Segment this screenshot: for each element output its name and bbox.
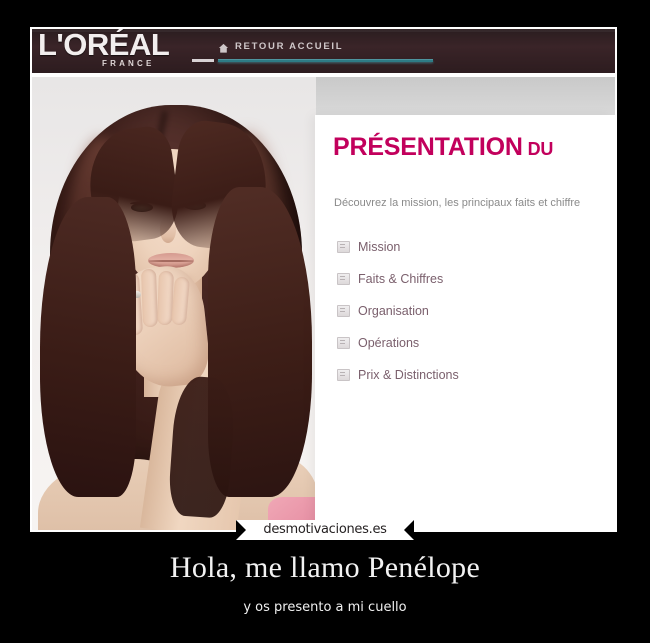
content-panel: PRÉSENTATION DU Découvrez la mission, le… <box>315 115 615 530</box>
list-item-label: Opérations <box>358 336 419 350</box>
list-item[interactable]: Mission <box>337 231 459 263</box>
finger-2 <box>141 269 158 327</box>
home-icon <box>218 41 229 52</box>
caption-sub: y os presento a mi cuello <box>0 600 650 615</box>
loreal-france-label: FRANCE <box>102 59 155 68</box>
square-bullet-icon <box>337 305 350 317</box>
list-item[interactable]: Opérations <box>337 327 459 359</box>
square-bullet-icon <box>337 337 350 349</box>
square-bullet-icon <box>337 369 350 381</box>
page-title-main: PRÉSENTATION <box>333 133 523 161</box>
badge-notch-left <box>236 520 246 540</box>
badge-notch-right <box>404 520 414 540</box>
list-item-label: Prix & Distinctions <box>358 368 459 382</box>
nav-retour-label: RETOUR ACCUEIL <box>235 41 343 52</box>
square-bullet-icon <box>337 241 350 253</box>
list-item[interactable]: Prix & Distinctions <box>337 359 459 391</box>
list-item-label: Mission <box>358 240 400 254</box>
screenshot-image-frame: L'ORÉAL FRANCE RETOUR ACCUEIL photoshopd… <box>30 27 617 532</box>
list-item[interactable]: Organisation <box>337 295 459 327</box>
demotivational-poster: L'ORÉAL FRANCE RETOUR ACCUEIL photoshopd… <box>0 0 650 643</box>
desmotivaciones-badge: desmotivaciones.es <box>236 520 414 540</box>
page-title: PRÉSENTATION DU <box>333 133 553 162</box>
nav-underline <box>218 60 433 62</box>
nav-retour-accueil[interactable]: RETOUR ACCUEIL <box>218 41 343 52</box>
header-divider-dash <box>192 59 214 62</box>
caption-main: Hola, me llamo Penélope <box>0 551 650 585</box>
list-item-label: Organisation <box>358 304 429 318</box>
presentation-link-list: Mission Faits & Chiffres Organisation Op… <box>337 231 459 391</box>
model-photo <box>32 77 316 530</box>
loreal-wordmark: L'ORÉAL <box>38 29 169 62</box>
list-item[interactable]: Faits & Chiffres <box>337 263 459 295</box>
square-bullet-icon <box>337 273 350 285</box>
desmotivaciones-badge-label: desmotivaciones.es <box>263 522 386 537</box>
hair-front-left <box>40 197 136 497</box>
loreal-logo[interactable]: L'ORÉAL FRANCE <box>38 29 213 73</box>
site-header: L'ORÉAL FRANCE RETOUR ACCUEIL <box>32 29 615 73</box>
page-subtitle: Découvrez la mission, les principaux fai… <box>334 197 580 209</box>
page-body: photoshopdesastre.blogspot.com <box>32 77 615 530</box>
page-title-tail: DU <box>528 139 554 159</box>
lip-line <box>149 260 193 262</box>
list-item-label: Faits & Chiffres <box>358 272 443 286</box>
